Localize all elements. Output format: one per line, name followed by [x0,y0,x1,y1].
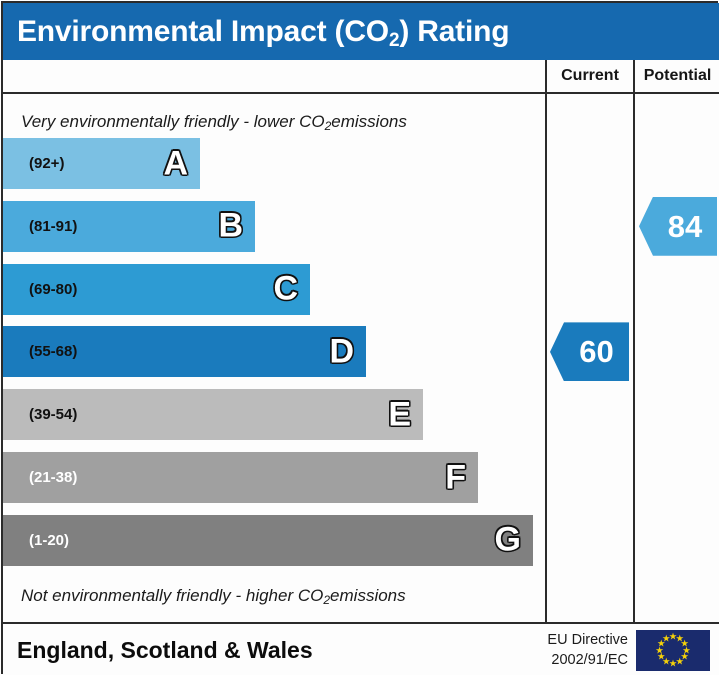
rating-band-g: (1-20)G [3,515,533,566]
band-range-label: (92+) [3,155,64,172]
eu-flag-star: ★ [662,634,671,644]
caption-bottom: Not environmentally friendly - higher CO… [3,580,545,612]
current-rating-value: 60 [565,336,613,367]
potential-rating-value: 84 [654,211,702,242]
band-letter-d: D [329,334,354,368]
epc-environmental-impact-chart: Environmental Impact (CO2) Rating Curren… [0,0,719,675]
band-letter-a: A [163,146,188,180]
band-range-label: (55-68) [3,343,77,360]
page-title-tail: ) Rating [399,15,509,48]
band-letter-g: G [495,523,521,557]
chart-footer: England, Scotland & Wales EU Directive 2… [3,622,719,675]
column-header-current: Current [545,60,633,92]
eu-directive-text: EU Directive 2002/91/EC [547,631,628,670]
caption-bottom-post: emissions [330,586,406,606]
rating-bands: (92+)A(81-91)B(69-80)C(55-68)D(39-54)E(2… [3,138,545,578]
rating-band-f: (21-38)F [3,452,478,503]
chart-header: Environmental Impact (CO2) Rating [3,3,719,60]
column-divider-potential [633,94,635,622]
page-title-subscript: 2 [389,30,399,51]
band-letter-f: F [445,460,466,494]
rating-band-b: (81-91)B [3,201,255,252]
caption-top-post: emissions [331,112,407,132]
eu-directive-line1: EU Directive [547,631,628,651]
eu-directive-line2: 2002/91/EC [547,651,628,671]
band-range-label: (21-38) [3,469,77,486]
eu-flag-icon: ★★★★★★★★★★★★ [636,630,710,671]
rating-band-e: (39-54)E [3,389,423,440]
caption-top-pre: Very environmentally friendly - lower CO [21,112,325,132]
page-title: Environmental Impact (CO2) Rating [3,15,509,49]
band-range-label: (1-20) [3,532,69,549]
band-range-label: (39-54) [3,406,77,423]
column-header-potential: Potential [633,60,719,92]
chart-frame: Environmental Impact (CO2) Rating Curren… [1,1,718,674]
rating-band-a: (92+)A [3,138,200,189]
rating-band-d: (55-68)D [3,326,366,377]
chart-body: Very environmentally friendly - lower CO… [3,94,719,622]
caption-bottom-pre: Not environmentally friendly - higher CO [21,586,323,606]
potential-rating-marker: 84 [639,197,717,256]
band-letter-c: C [273,271,298,305]
column-header-row: Current Potential [3,60,719,94]
column-divider-current [545,94,547,622]
caption-bottom-subscript: 2 [323,593,330,607]
page-title-main: Environmental Impact (CO [17,15,389,48]
caption-top: Very environmentally friendly - lower CO… [3,106,545,138]
current-rating-marker: 60 [550,322,629,381]
band-range-label: (81-91) [3,218,77,235]
footer-directive-block: EU Directive 2002/91/EC ★★★★★★★★★★★★ [547,630,710,671]
rating-band-c: (69-80)C [3,264,310,315]
caption-top-subscript: 2 [325,119,332,133]
band-letter-e: E [388,397,411,431]
footer-region-label: England, Scotland & Wales [3,637,313,664]
band-range-label: (69-80) [3,281,77,298]
band-letter-b: B [218,209,243,243]
